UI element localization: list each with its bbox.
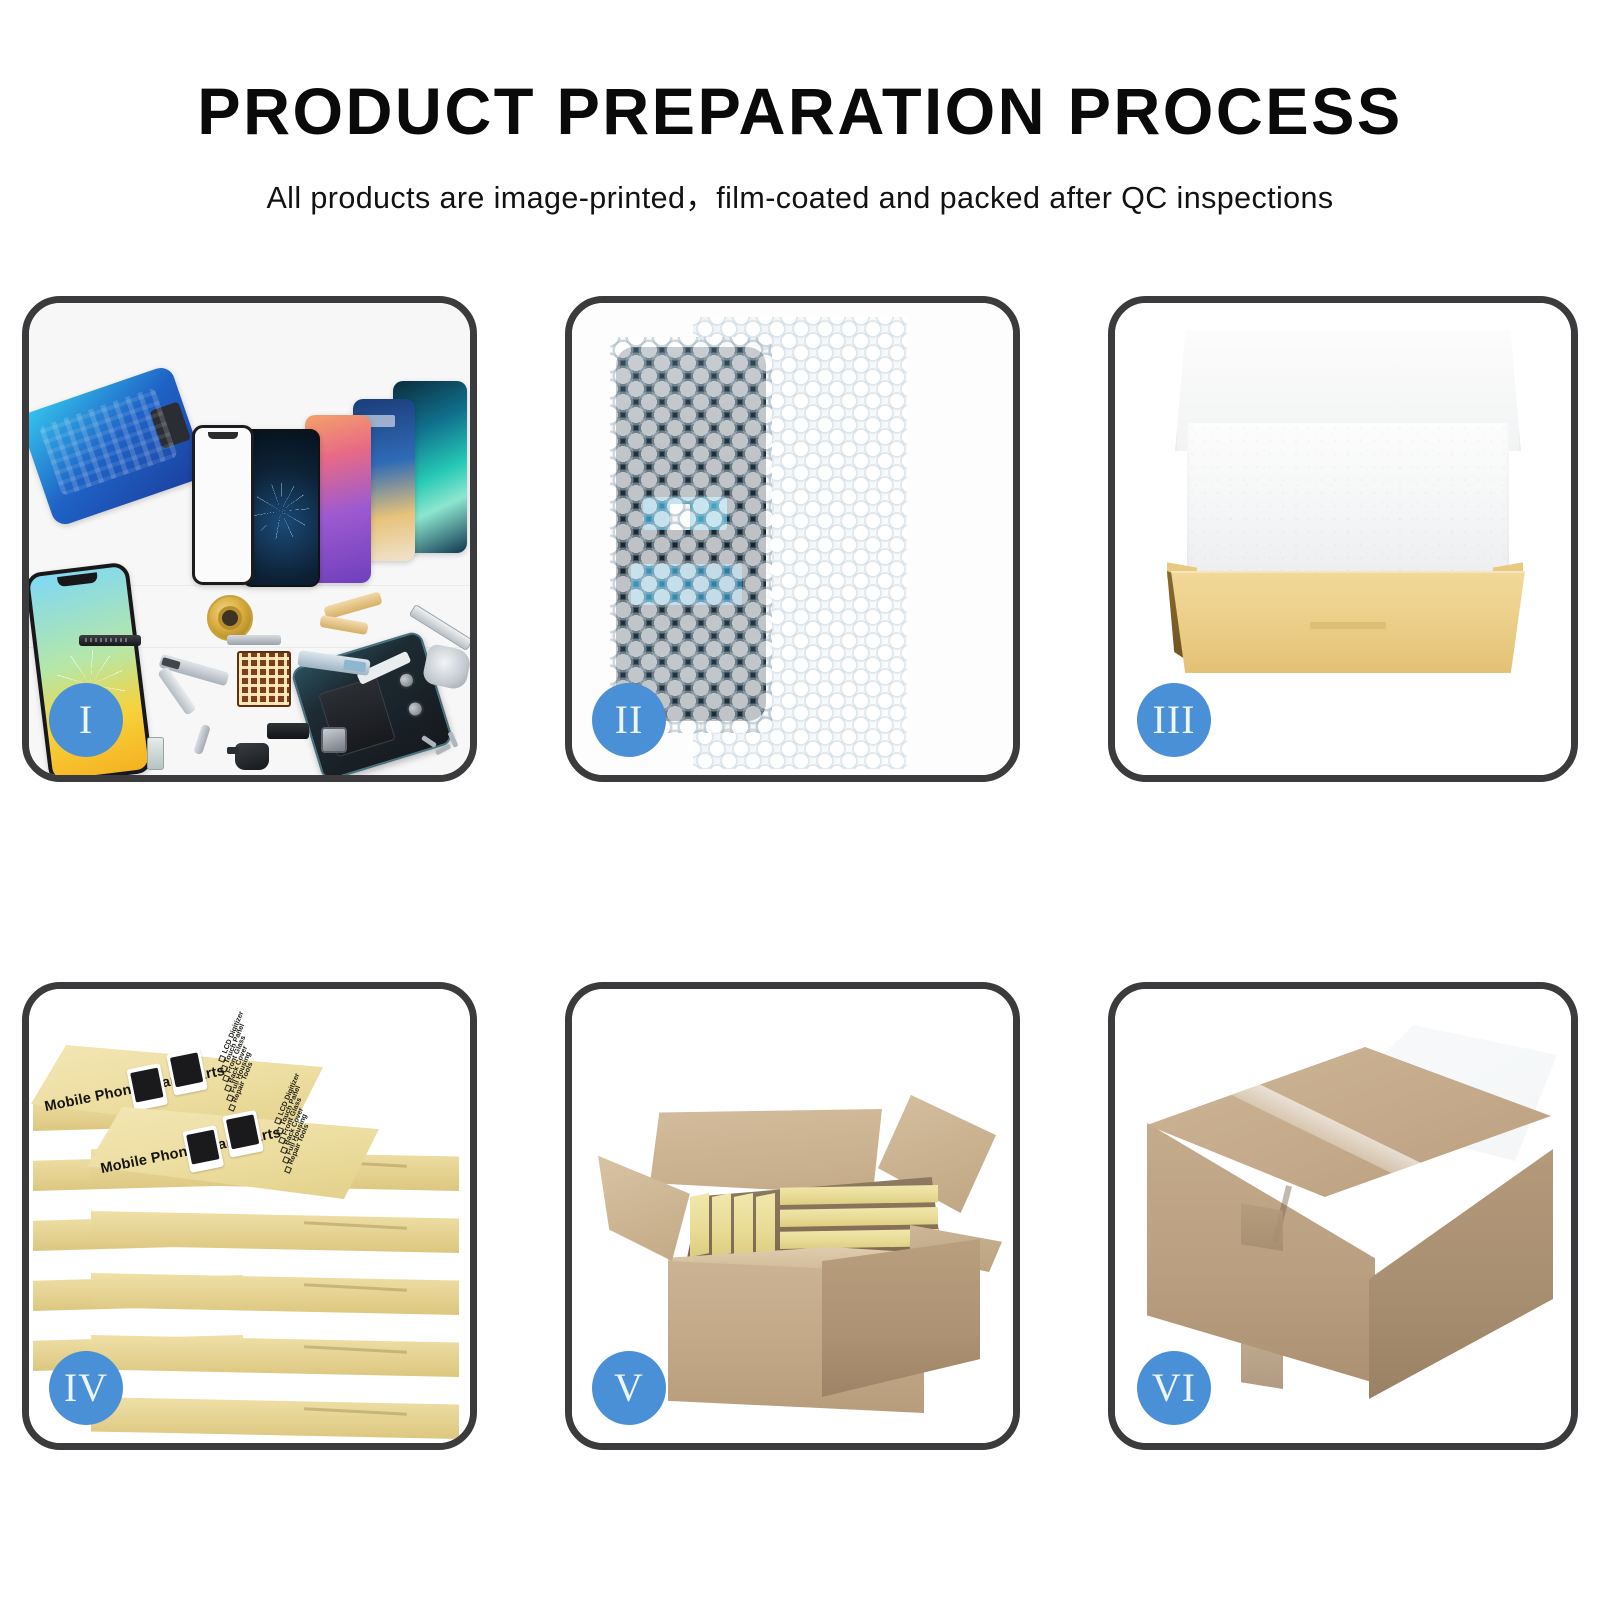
sim-tray-part [147,737,164,770]
step-card-2: II [565,296,1020,782]
box-tab [1310,622,1386,629]
earpiece-mesh-part [79,635,141,646]
retail-box-checklist: LCD Digitizer Touch Panel Front Glass [276,1108,341,1178]
retail-box [690,1193,709,1257]
step-card-6: VI [1108,982,1578,1450]
retail-box [780,1207,938,1227]
step-badge-6: VI [1137,1351,1211,1425]
step-badge-4: IV [49,1351,123,1425]
front-glass-panel [192,425,254,585]
carton-tape-patch [1241,1203,1283,1251]
camera-module-part [321,727,347,753]
retail-box [91,1397,459,1439]
step-card-4: Mobile Phone Spare Parts LCD Digitizer T… [22,982,477,1450]
step-badge-3: III [1137,683,1211,757]
vibrator-part [235,743,269,770]
ic-chip-part [237,651,291,707]
retail-box [91,1335,459,1377]
step-card-1: I [22,296,477,782]
carton-tape-patch [1241,1341,1283,1389]
camera-lens-part [404,698,425,719]
camera-lens-part [396,670,417,691]
step-badge-2: II [592,683,666,757]
infographic-page: PRODUCT PREPARATION PROCESS All products… [0,0,1600,1600]
chip-part [267,723,309,739]
step-card-5: V [565,982,1020,1450]
step-badge-1: I [49,683,123,757]
retail-box [780,1185,938,1205]
product-photo [166,1048,208,1096]
screws-part [421,735,465,759]
step-card-3: III [1108,296,1578,782]
retail-box [734,1193,753,1257]
retail-box [756,1193,775,1257]
connector-part [227,635,281,645]
retail-box-checklist: LCD Digitizer Touch Panel Front Glass [220,1046,285,1116]
retail-box [91,1273,459,1315]
bubble-overlay [610,337,772,733]
step-badge-5: V [592,1351,666,1425]
foam-padding [1187,423,1509,579]
box-front-panel [1171,571,1525,673]
process-step-grid: I II [0,0,1600,1600]
retail-box [712,1193,731,1257]
